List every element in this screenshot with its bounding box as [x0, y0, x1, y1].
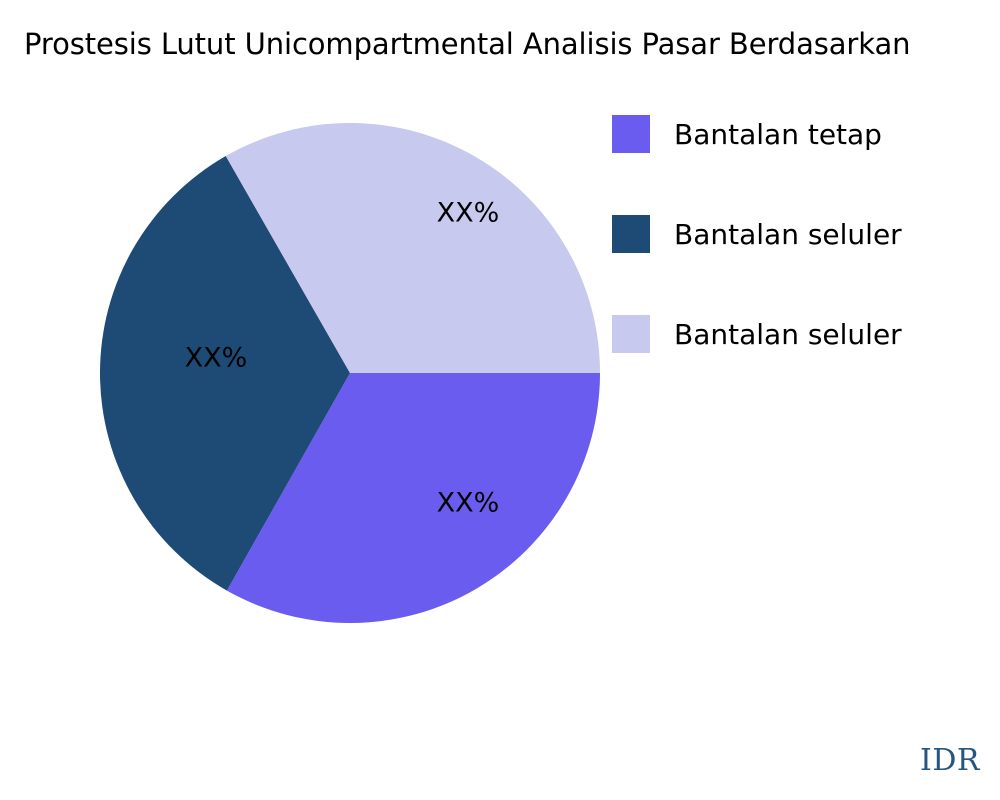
legend-item-label: Bantalan tetap: [674, 118, 882, 152]
chart-legend: Bantalan tetapBantalan selulerBantalan s…: [612, 115, 992, 415]
legend-item[interactable]: Bantalan tetap: [612, 115, 992, 215]
footer-currency-mark: IDR: [920, 743, 980, 778]
pie-slice-group: [100, 123, 600, 623]
pie-chart: XX%XX%XX%: [100, 123, 600, 623]
legend-color-swatch: [612, 115, 650, 153]
legend-color-swatch: [612, 315, 650, 353]
pie-svg: [100, 123, 600, 623]
chart-canvas: Prostesis Lutut Unicompartmental Analisi…: [0, 0, 1000, 800]
legend-item[interactable]: Bantalan seluler: [612, 215, 992, 315]
legend-item-label: Bantalan seluler: [674, 218, 902, 252]
legend-item[interactable]: Bantalan seluler: [612, 315, 992, 415]
legend-item-label: Bantalan seluler: [674, 318, 902, 352]
page-title: Prostesis Lutut Unicompartmental Analisi…: [24, 24, 1000, 64]
legend-color-swatch: [612, 215, 650, 253]
